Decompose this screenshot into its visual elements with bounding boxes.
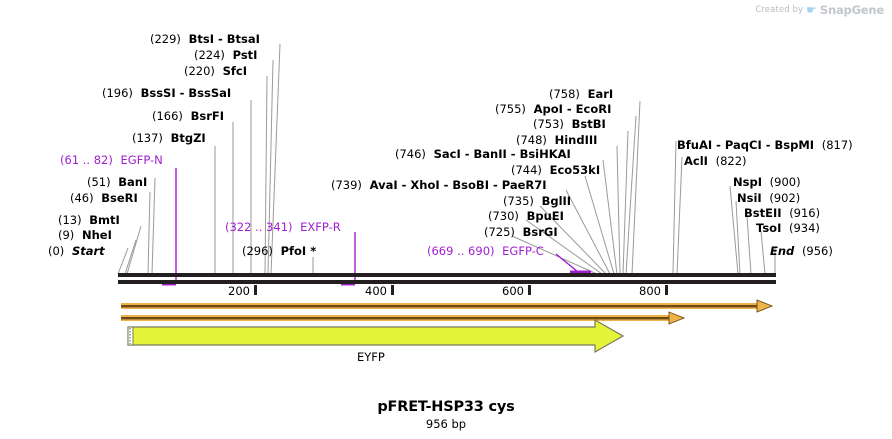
ruler-label-600: 600 xyxy=(502,284,524,298)
enzyme-label-psti[interactable]: (224) PstI xyxy=(194,49,257,62)
enzyme-label-hindiii[interactable]: (748) HindIII xyxy=(516,134,597,147)
enzyme-label-nsii[interactable]: NsiI (902) xyxy=(737,192,800,205)
ruler-label-200: 200 xyxy=(228,284,250,298)
leader-line-acli xyxy=(677,157,682,274)
enzyme-name-pfoi: PfoI * xyxy=(281,244,317,258)
enzyme-pos-bseri: (46) xyxy=(70,191,94,205)
enzyme-name-nspi: NspI xyxy=(733,175,762,189)
enzyme-name-bmti: BmtI xyxy=(89,213,120,227)
orange-arrow-bottom xyxy=(121,312,684,324)
leader-line-avai xyxy=(566,190,610,274)
enzyme-label-nspi[interactable]: NspI (900) xyxy=(733,176,801,189)
feature-pos-egfp-c: (669 .. 690) xyxy=(427,244,495,258)
ruler-label-400: 400 xyxy=(365,284,387,298)
enzyme-pos-nhei: (9) xyxy=(58,228,74,242)
enzyme-name-hindiii: HindIII xyxy=(555,133,598,147)
ruler-tick-200 xyxy=(254,285,257,295)
ruler-tick-600 xyxy=(528,285,531,295)
enzyme-name-bseri: BseRI xyxy=(101,191,138,205)
marker-name-start: Start xyxy=(72,244,105,258)
leader-line-bstbi xyxy=(623,131,628,274)
enzyme-name-bsssi: BssSI - BssSaI xyxy=(141,86,232,100)
feature-leader-egfp-c xyxy=(556,254,578,274)
enzyme-pos-eco53ki: (744) xyxy=(511,163,542,177)
enzyme-name-acli: AclI xyxy=(684,154,708,168)
enzyme-name-bfuai: BfuAI - PaqCI - BspMI xyxy=(677,138,814,152)
orange-arrow-top xyxy=(121,300,772,312)
enzyme-pos-psti: (224) xyxy=(194,48,225,62)
enzyme-name-bpuei: BpuEI xyxy=(527,209,564,223)
enzyme-label-tsoi[interactable]: TsoI (934) xyxy=(756,222,820,235)
enzyme-pos-tsoi: (934) xyxy=(789,221,820,235)
marker-label-start[interactable]: (0) Start xyxy=(48,245,105,258)
leader-line-tsoi xyxy=(761,231,765,274)
enzyme-pos-bmti: (13) xyxy=(58,213,82,227)
enzyme-pos-pfoi: (296) xyxy=(242,244,273,258)
leader-line-start xyxy=(118,248,128,274)
enzyme-label-saci[interactable]: (746) SacI - BanII - BsiHKAI xyxy=(395,148,571,161)
enzyme-label-sfci[interactable]: (220) SfcI xyxy=(184,65,247,78)
enzyme-label-bstei[interactable]: BstEII (916) xyxy=(744,207,820,220)
enzyme-name-avai: AvaI - XhoI - BsoBI - PaeR7I xyxy=(370,178,547,192)
eyfp-gene-arrow xyxy=(128,320,623,352)
leader-line-saci xyxy=(603,160,617,274)
leader-line-bfuai xyxy=(673,141,676,274)
feature-label-exfp-r[interactable]: (322 .. 341) EXFP-R xyxy=(225,221,341,234)
enzyme-label-eari[interactable]: (758) EarI xyxy=(549,88,613,101)
snapgene-watermark: Created by ☛ SnapGene xyxy=(755,3,884,17)
ruler-tick-400 xyxy=(391,285,394,295)
enzyme-label-bpuei[interactable]: (730) BpuEI xyxy=(488,210,564,223)
enzyme-name-bsrfi: BsrFI xyxy=(191,109,224,123)
enzyme-pos-bsssi: (196) xyxy=(102,86,133,100)
feature-label-egfp-c[interactable]: (669 .. 690) EGFP-C xyxy=(427,245,544,258)
watermark-brand-text: SnapGene xyxy=(820,3,884,17)
enzyme-pos-btsi: (229) xyxy=(150,32,181,46)
enzyme-name-btsi: BtsI - BtsaI xyxy=(189,32,260,46)
leader-line-nhei xyxy=(125,240,136,274)
enzyme-name-btgzi: BtgZI xyxy=(171,131,206,145)
enzyme-pos-bfuai: (817) xyxy=(822,138,853,152)
enzyme-label-pfoi[interactable]: (296) PfoI * xyxy=(242,245,316,258)
leader-line-bmti xyxy=(127,226,141,274)
enzyme-label-bani[interactable]: (51) BanI xyxy=(87,176,147,189)
enzyme-label-acli[interactable]: AclI (822) xyxy=(684,155,747,168)
enzyme-label-bmti[interactable]: (13) BmtI xyxy=(58,214,120,227)
enzyme-label-apoi[interactable]: (755) ApoI - EcoRI xyxy=(495,103,611,116)
enzyme-name-bsrgi: BsrGI xyxy=(523,225,558,239)
enzyme-name-sfci: SfcI xyxy=(223,64,247,78)
enzyme-name-bstbi: BstBI xyxy=(572,117,606,131)
leader-line-apoi xyxy=(626,116,636,274)
enzyme-name-bstei: BstEII xyxy=(744,206,782,220)
enzyme-label-bsrfi[interactable]: (166) BsrFI xyxy=(152,110,224,123)
leader-line-bani xyxy=(152,178,155,274)
enzyme-pos-bsrgi: (725) xyxy=(484,225,515,239)
enzyme-pos-sfci: (220) xyxy=(184,64,215,78)
enzyme-label-nhei[interactable]: (9) NheI xyxy=(58,229,112,242)
enzyme-label-bstbi[interactable]: (753) BstBI xyxy=(533,118,606,131)
enzyme-label-btgzi[interactable]: (137) BtgZI xyxy=(132,132,206,145)
leader-line-psti xyxy=(268,60,273,274)
enzyme-name-saci: SacI - BanII - BsiHKAI xyxy=(434,147,571,161)
marker-name-end: End xyxy=(770,244,794,258)
feature-label-egfp-n[interactable]: (61 .. 82) EGFP-N xyxy=(60,154,163,167)
plasmid-map-canvas: Created by ☛ SnapGene xyxy=(0,0,892,439)
feature-name-exfp-r: EXFP-R xyxy=(300,220,341,234)
leader-line-hindiii xyxy=(617,146,620,274)
enzyme-pos-bglii: (735) xyxy=(503,194,534,208)
eyfp-start-hatch xyxy=(128,327,133,345)
enzyme-name-tsoi: TsoI xyxy=(756,221,781,235)
eyfp-track-label: EYFP xyxy=(357,350,385,364)
enzyme-pos-btgzi: (137) xyxy=(132,131,163,145)
enzyme-name-eari: EarI xyxy=(588,87,614,101)
enzyme-pos-avai: (739) xyxy=(331,178,362,192)
enzyme-label-bseri[interactable]: (46) BseRI xyxy=(70,192,138,205)
watermark-created-by-text: Created by xyxy=(755,5,803,15)
enzyme-label-bsrgi[interactable]: (725) BsrGI xyxy=(484,226,558,239)
enzyme-pos-bstei: (916) xyxy=(789,206,820,220)
marker-label-end[interactable]: End (956) xyxy=(770,245,833,258)
enzyme-name-psti: PstI xyxy=(233,48,258,62)
enzyme-name-nhei: NheI xyxy=(82,228,112,242)
enzyme-label-bsssi[interactable]: (196) BssSI - BssSaI xyxy=(102,87,231,100)
enzyme-name-bani: BanI xyxy=(118,175,147,189)
ruler-label-800: 800 xyxy=(639,284,661,298)
backbone-line-lower xyxy=(118,280,776,284)
feature-pos-egfp-n: (61 .. 82) xyxy=(60,153,113,167)
enzyme-pos-apoi: (755) xyxy=(495,102,526,116)
enzyme-label-btsi[interactable]: (229) BtsI - BtsaI xyxy=(150,33,260,46)
snapgene-logo-icon: ☛ xyxy=(806,4,817,16)
ruler-ticks xyxy=(254,285,668,295)
marker-pos-start: (0) xyxy=(48,244,64,258)
enzyme-pos-eari: (758) xyxy=(549,87,580,101)
leader-line-bseri xyxy=(148,192,150,274)
enzyme-name-eco53ki: Eco53kI xyxy=(550,163,601,177)
enzyme-label-avai[interactable]: (739) AvaI - XhoI - BsoBI - PaeR7I xyxy=(331,179,547,192)
enzyme-name-nsii: NsiI xyxy=(737,191,762,205)
leader-line-nsii xyxy=(736,201,740,274)
enzyme-pos-bstbi: (753) xyxy=(533,117,564,131)
enzyme-name-apoi: ApoI - EcoRI xyxy=(534,102,612,116)
feature-name-egfp-c: EGFP-C xyxy=(502,244,544,258)
plasmid-length: 956 bp xyxy=(0,417,892,431)
enzyme-pos-bpuei: (730) xyxy=(488,209,519,223)
feature-name-egfp-n: EGFP-N xyxy=(121,153,163,167)
enzyme-pos-bani: (51) xyxy=(87,175,111,189)
marker-pos-end: (956) xyxy=(802,244,833,258)
enzyme-pos-nspi: (900) xyxy=(770,175,801,189)
leader-line-bstei xyxy=(747,216,751,274)
enzyme-name-bglii: BglII xyxy=(542,194,572,208)
leader-line-eco53ki xyxy=(585,176,614,274)
enzyme-pos-acli: (822) xyxy=(716,154,747,168)
enzyme-pos-nsii: (902) xyxy=(769,191,800,205)
plasmid-backbone xyxy=(118,273,776,284)
plasmid-title: pFRET-HSP33 cys xyxy=(0,399,892,415)
enzyme-label-eco53ki[interactable]: (744) Eco53kI xyxy=(511,164,600,177)
backbone-line-upper xyxy=(118,273,776,277)
leader-line-btsi xyxy=(271,44,280,274)
leader-line-eari xyxy=(632,101,640,274)
enzyme-pos-saci: (746) xyxy=(395,147,426,161)
ruler-tick-800 xyxy=(665,285,668,295)
feature-pos-exfp-r: (322 .. 341) xyxy=(225,220,293,234)
enzyme-pos-hindiii: (748) xyxy=(516,133,547,147)
enzyme-label-bglii[interactable]: (735) BglII xyxy=(503,195,571,208)
enzyme-label-bfuai[interactable]: BfuAI - PaqCI - BspMI (817) xyxy=(677,139,853,152)
enzyme-pos-bsrfi: (166) xyxy=(152,109,183,123)
